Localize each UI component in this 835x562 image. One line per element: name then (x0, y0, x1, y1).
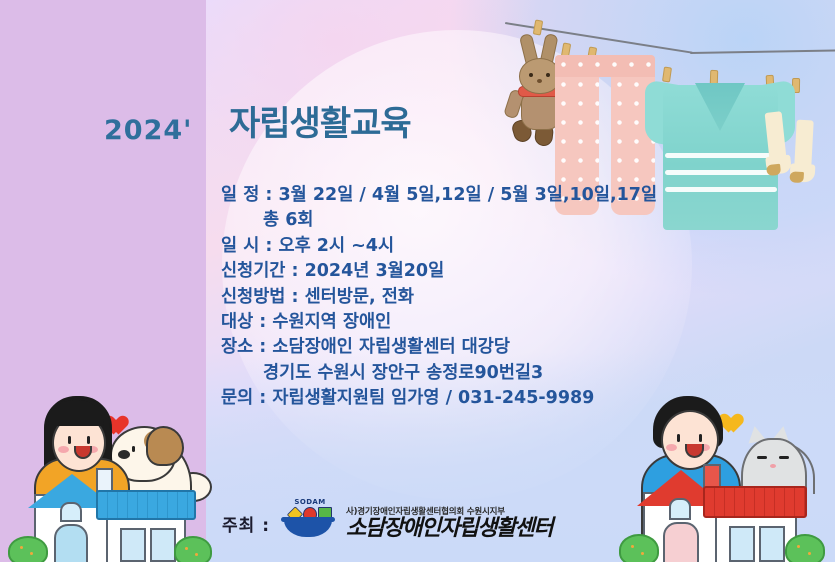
info-line: 문의 : 자립생활지원팀 임가영 / 031-245-9989 (221, 386, 621, 411)
house-blue-roof (22, 466, 194, 562)
house-roof-right (96, 490, 196, 520)
bottom-left-illustration (6, 390, 216, 562)
bush-left (619, 534, 659, 562)
pants-waistband (555, 55, 655, 77)
dog-ear (146, 426, 184, 466)
info-line: 일 정 : 3월 22일 / 4월 5일,12일 / 5월 3일,10일,17일 (221, 183, 621, 208)
bush-right (785, 534, 825, 562)
organizer-name: 소담장애인자립생활센터 (346, 518, 552, 540)
bunny-eye-right (546, 73, 550, 77)
tshirt-stripe (665, 153, 777, 158)
house-window-2 (759, 526, 785, 562)
info-line: 일 시 : 오후 2시 ~4시 (221, 234, 621, 259)
bush-right (174, 536, 212, 562)
man-mouth (685, 444, 704, 458)
bush-berry (195, 553, 198, 556)
house-window-2 (150, 528, 176, 562)
house-red-roof (631, 464, 807, 562)
man-face (661, 410, 719, 470)
bush-berry (185, 547, 188, 550)
host-label: 주최 : (222, 511, 270, 542)
info-line: 총 6회 (221, 208, 621, 233)
house-door (54, 524, 88, 562)
info-line: 장소 : 소담장애인 자립생활센터 대강당 (221, 335, 621, 360)
info-line: 경기도 수원시 장안구 송정로90번길3 (221, 361, 621, 386)
sock-toe (789, 171, 804, 183)
bush-berry (631, 545, 634, 548)
woman-cheek-left (58, 446, 69, 453)
year-label: 2024' (104, 115, 192, 146)
organizer-names: 사)경기장애인자립생활센터협의회 수원시지부 소담장애인자립생활센터 (346, 505, 552, 542)
polka-dot-pattern (555, 55, 655, 77)
bush-berry (641, 552, 644, 555)
man-eye-left (677, 434, 680, 442)
dog-eye (132, 446, 135, 452)
organizer-row: 주최 : SODAM 사)경기장애인자립생활센터협의회 수원시지부 소담장애인자… (222, 498, 552, 542)
sodam-logo-icon: SODAM (280, 498, 336, 542)
house-window-attic (669, 498, 691, 520)
info-line: 대상 : 수원지역 장애인 (221, 310, 621, 335)
sock-toe (766, 164, 781, 176)
house-door (663, 522, 699, 562)
woman-mouth (74, 446, 92, 459)
bush-left (8, 536, 48, 562)
tshirt-stripe (665, 170, 777, 175)
bunny-eye-left (529, 73, 533, 77)
bush-berry (20, 546, 23, 549)
poster-title: 자립생활교육 (229, 96, 411, 145)
bottom-right-illustration (617, 390, 827, 562)
info-line: 신청기간 : 2024년 3월20일 (221, 259, 621, 284)
sodam-logo-text: SODAM (290, 498, 330, 506)
woman-eye-left (68, 436, 71, 444)
house-roof-right (703, 486, 807, 518)
tshirt-stripe (665, 187, 777, 192)
sock-illustration (789, 119, 816, 186)
info-line: 신청방법 : 센터방문, 전화 (221, 285, 621, 310)
bowl-icon (284, 520, 332, 537)
house-window-1 (729, 526, 755, 562)
house-window-attic (60, 502, 82, 522)
dog-nose (118, 450, 130, 459)
info-block: 일 정 : 3월 22일 / 4월 5일,12일 / 5월 3일,10일,17일… (221, 183, 621, 412)
cat-eye-right (779, 456, 789, 459)
man-eye-right (699, 434, 702, 442)
bush-berry (808, 552, 811, 555)
poster-canvas: 2024' 자립생활교육 일 정 : 3월 22일 / 4월 5일,12일 / … (0, 0, 835, 562)
bush-berry (30, 552, 33, 555)
heart-icon-red (110, 408, 132, 428)
bunny-nose (537, 79, 542, 83)
woman-eye-right (87, 436, 90, 444)
man-cheek-left (666, 444, 677, 451)
cat-eye-left (757, 456, 767, 459)
heart-icon-yellow (725, 406, 747, 426)
bush-berry (797, 545, 800, 548)
house-window-1 (120, 528, 146, 562)
